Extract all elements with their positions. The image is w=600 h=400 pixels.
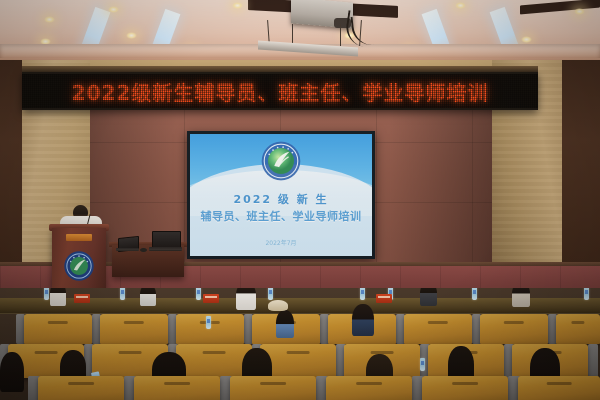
laptop-base (116, 248, 139, 251)
water-bottle (196, 288, 201, 300)
projection-screen: 2022 级 新 生 辅导员、班主任、学业导师培训 2022年7月 (187, 131, 375, 259)
ceiling-downlight (574, 8, 585, 15)
presentation-slide: 2022 级 新 生 辅导员、班主任、学业导师培训 2022年7月 (190, 134, 372, 256)
auditorium-seat[interactable] (176, 344, 252, 378)
auditorium-seat[interactable] (518, 376, 600, 400)
auditorium-seat[interactable] (326, 376, 412, 400)
attendee (420, 288, 437, 306)
attendee (276, 310, 294, 338)
desk-row (0, 298, 600, 314)
attendee-cap (268, 300, 288, 311)
laptop-base (149, 247, 182, 251)
ceiling-downlight (108, 6, 119, 13)
ceiling-downlight (44, 16, 55, 23)
attendee (0, 352, 24, 392)
auditorium-seat[interactable] (422, 376, 508, 400)
university-emblem-icon (260, 140, 302, 182)
university-emblem-icon (63, 250, 95, 282)
podium-nameplate (66, 234, 92, 241)
slide-title: 2022 级 新 生 (190, 191, 372, 207)
table-name-card (203, 294, 219, 303)
ceiling-downlight (126, 32, 137, 39)
side-wall-left (0, 60, 24, 290)
auditorium-seat[interactable] (24, 314, 92, 344)
audience-seating (0, 288, 600, 400)
auditorium-photo: 2022级新生辅导员、班主任、学业导师培训 (0, 0, 600, 400)
projector-hanger-rod (340, 24, 341, 46)
auditorium-seat[interactable] (230, 376, 316, 400)
attendee (512, 288, 530, 307)
seat-armrest (588, 344, 598, 378)
side-wall-right (560, 60, 600, 290)
water-bottle (420, 358, 425, 371)
auditorium-seat[interactable] (556, 314, 600, 344)
slide-date: 2022年7月 (190, 238, 372, 247)
ceiling-downlight (455, 2, 466, 9)
water-bottle (120, 288, 125, 300)
water-bottle (584, 288, 589, 300)
water-bottle (360, 288, 365, 300)
water-bottle (268, 288, 273, 300)
mouse (140, 248, 147, 252)
ceiling-downlight (232, 2, 243, 9)
led-banner-text: 2022级新生辅导员、班主任、学业导师培训 (72, 77, 489, 106)
auditorium-seat[interactable] (480, 314, 548, 344)
auditorium-seat[interactable] (404, 314, 472, 344)
attendee (50, 288, 66, 306)
water-bottle (44, 288, 49, 300)
auditorium-seat[interactable] (100, 314, 168, 344)
attendee (140, 288, 156, 306)
table-name-card (376, 294, 392, 303)
slide-subtitle: 辅导员、班主任、学业导师培训 (190, 208, 372, 224)
auditorium-seat[interactable] (134, 376, 220, 400)
auditorium-seat[interactable] (38, 376, 124, 400)
table-name-card (74, 294, 90, 303)
water-bottle (206, 316, 211, 329)
attendee (236, 288, 256, 310)
attendee (352, 304, 374, 336)
water-bottle (472, 288, 477, 300)
ceiling-downlight (521, 36, 532, 43)
led-banner: 2022级新生辅导员、班主任、学业导师培训 (22, 72, 538, 110)
